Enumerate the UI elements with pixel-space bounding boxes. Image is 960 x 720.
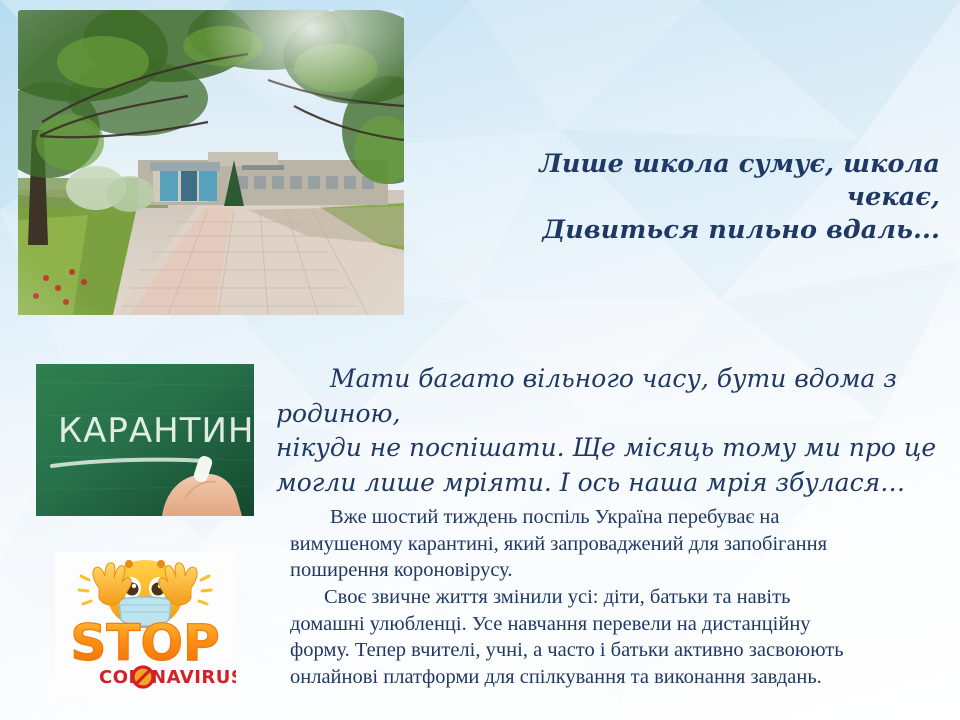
dream-line-1: Мати багато вільного часу, бути вдома з …: [276, 364, 897, 428]
svg-text:КАРАНТИН: КАРАНТИН: [58, 411, 254, 451]
stop-coronavirus-graphic: STOP COR NAVIRUS: [55, 552, 236, 702]
heading-line-1: Лише школа сумує, школа чекає,: [539, 149, 940, 212]
svg-text:STOP: STOP: [70, 614, 219, 672]
life-line-4: онлайнові платформи для спілкування та в…: [290, 666, 822, 688]
chalkboard-photo: КАРАНТИН: [36, 364, 254, 516]
life-line-2: домашні улюбленці. Усе навчання перевели…: [290, 613, 811, 635]
paragraph-dream: Мати багато вільного часу, бути вдома з …: [276, 362, 960, 500]
quarantine-line-3: поширення короновірусу.: [290, 559, 512, 581]
quarantine-line-2: вимушеному карантині, який запроваджений…: [290, 533, 827, 555]
presentation-slide: КАРАНТИН: [0, 0, 960, 720]
paragraph-body-group: Вже шостий тиждень поспіль Україна переб…: [290, 504, 950, 690]
school-building-photo: [18, 10, 404, 315]
slide-heading: Лише школа сумує, школа чекає, Дивиться …: [440, 148, 940, 247]
svg-text:NAVIRUS: NAVIRUS: [151, 667, 236, 688]
dream-line-2: нікуди не поспішати. Ще місяць тому ми п…: [276, 433, 936, 462]
paragraph-quarantine: Вже шостий тиждень поспіль Україна переб…: [290, 504, 950, 584]
paragraph-life: Своє звичне життя змінили усі: діти, бат…: [290, 584, 950, 691]
heading-line-2: Дивиться пильно вдаль...: [440, 214, 940, 247]
quarantine-line-1: Вже шостий тиждень поспіль Україна переб…: [330, 506, 779, 528]
dream-line-3: могли лише мріяти. І ось наша мрія збула…: [276, 468, 905, 497]
life-line-3: форму. Тепер вчителі, учні, а часто і ба…: [290, 639, 844, 661]
life-line-1: Своє звичне життя змінили усі: діти, бат…: [324, 586, 790, 608]
